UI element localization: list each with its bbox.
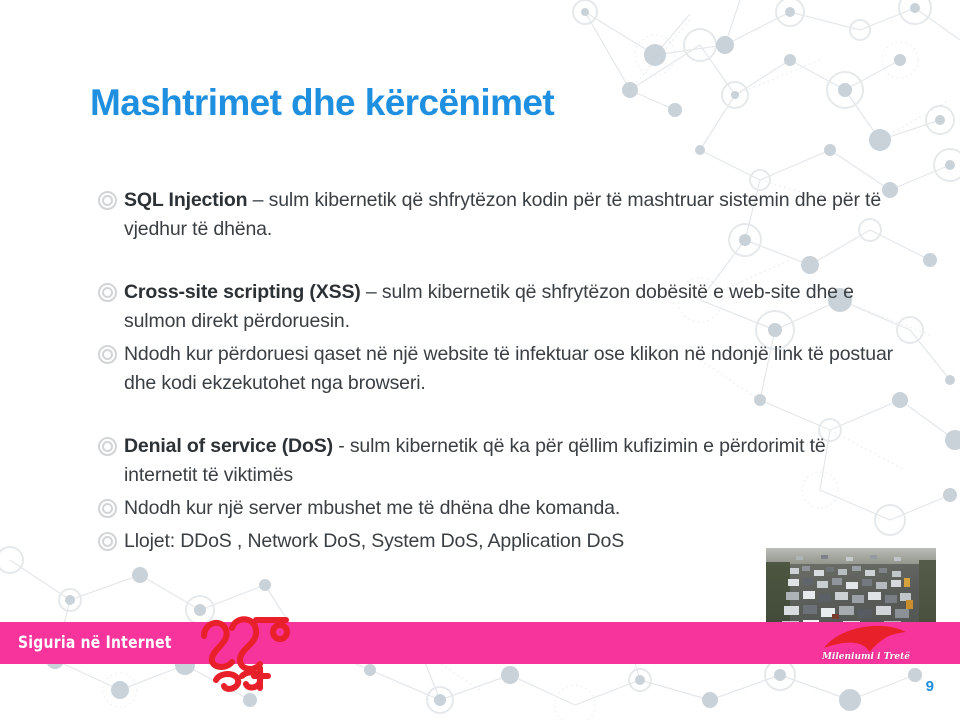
double-ring-bullet-icon [96, 188, 124, 214]
list-item-rest: Ndodh kur përdoruesi qaset në një websit… [124, 343, 893, 394]
double-ring-bullet-icon [96, 342, 124, 368]
list-item-text: Ndodh kur përdoruesi qaset në një websit… [124, 340, 896, 398]
slide-canvas: Mashtrimet dhe kërcënimet SQL Injection … [0, 0, 960, 720]
list-item: Denial of service (DoS) - sulm kiberneti… [96, 432, 896, 490]
list-item-lead: Cross-site scripting (XSS) [124, 281, 361, 303]
company-logo: Mileniumi i Tretë [806, 624, 926, 662]
footer-label: Siguria në Internet [18, 633, 172, 653]
list-item-lead: SQL Injection [124, 189, 247, 211]
list-item-text: Cross-site scripting (XSS) – sulm kibern… [124, 278, 896, 336]
logo-swoosh-icon [806, 624, 926, 654]
list-item: Cross-site scripting (XSS) – sulm kibern… [96, 278, 896, 336]
list-item-rest: Llojet: DDoS , Network DoS, System DoS, … [124, 530, 624, 552]
bullet-list: SQL Injection – sulm kibernetik që shfry… [96, 186, 896, 560]
list-item-lead: Denial of service (DoS) [124, 435, 333, 457]
double-ring-bullet-icon [96, 529, 124, 555]
double-ring-bullet-icon [96, 280, 124, 306]
logo-text: Mileniumi i Tretë [806, 652, 926, 662]
list-item-text: SQL Injection – sulm kibernetik që shfry… [124, 186, 896, 244]
double-ring-bullet-icon [96, 434, 124, 460]
list-item-rest: Ndodh kur një server mbushet me të dhëna… [124, 497, 620, 519]
double-ring-bullet-icon [96, 496, 124, 522]
list-item: SQL Injection – sulm kibernetik që shfry… [96, 186, 896, 244]
page-title: Mashtrimet dhe kërcënimet [90, 82, 554, 124]
list-item: Ndodh kur një server mbushet me të dhëna… [96, 494, 896, 523]
page-number: 9 [926, 678, 934, 695]
list-item-text: Ndodh kur një server mbushet me të dhëna… [124, 494, 896, 523]
list-item: Ndodh kur përdoruesi qaset në një websit… [96, 340, 896, 398]
list-item-text: Denial of service (DoS) - sulm kiberneti… [124, 432, 896, 490]
